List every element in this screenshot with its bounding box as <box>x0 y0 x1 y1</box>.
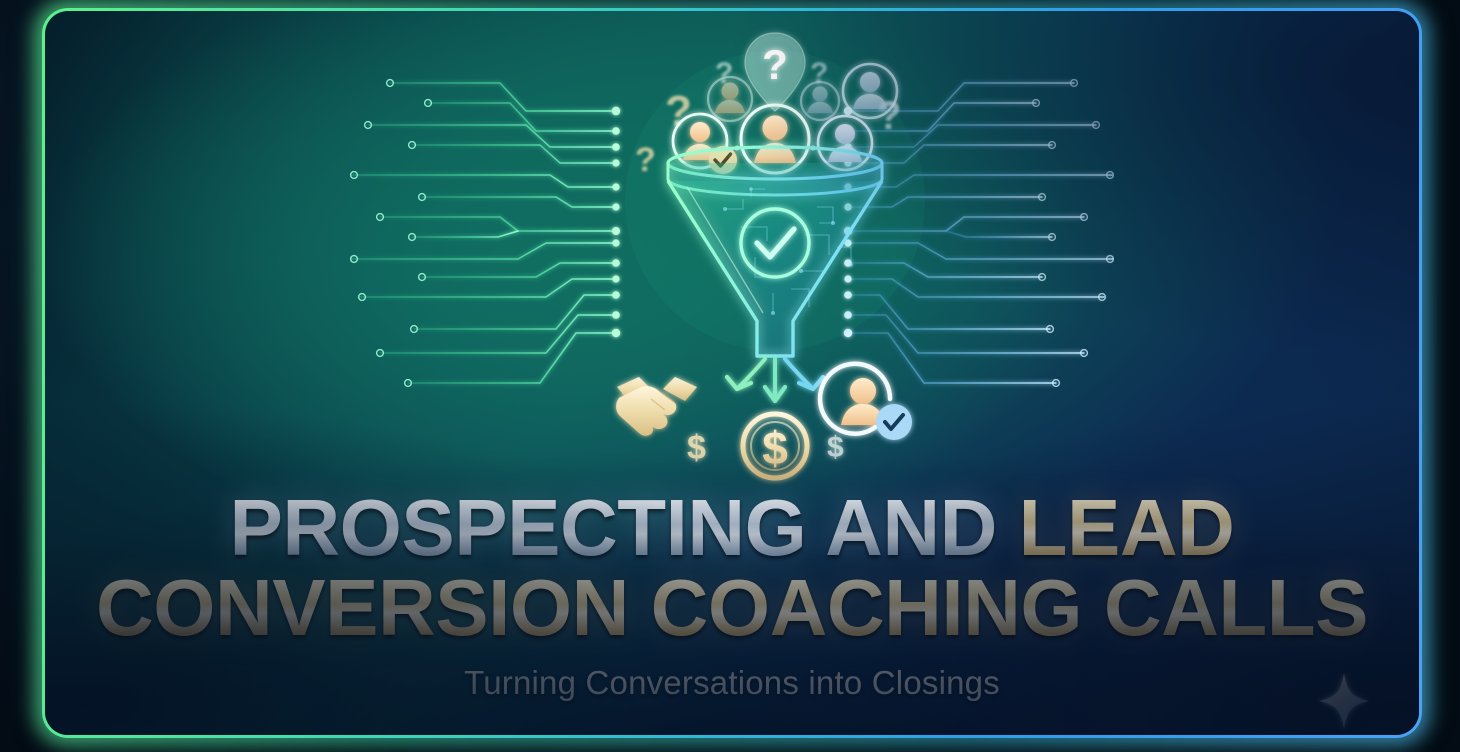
svg-text:$: $ <box>687 429 706 467</box>
title-block: PROSPECTING AND LEAD CONVERSION COACHING… <box>45 489 1419 702</box>
pin-marker-icon: ? <box>745 33 805 111</box>
svg-text:$: $ <box>762 422 788 474</box>
dollar-coin-icon: $ <box>743 414 807 478</box>
title-part-silver: PROSPECTING AND <box>230 483 997 572</box>
arrow-right <box>785 359 823 389</box>
circuit-traces-left <box>350 71 650 401</box>
svg-text:?: ? <box>635 141 656 179</box>
qualified-check-icon <box>741 209 809 277</box>
slide-panel: ? ? ? ? ? ? <box>45 11 1419 735</box>
neon-frame-border: ? ? ? ? ? ? <box>42 8 1422 738</box>
prospect-avatar <box>801 82 839 120</box>
svg-text:?: ? <box>762 41 788 88</box>
prospect-avatar <box>818 116 872 170</box>
verified-customer-icon <box>820 364 912 440</box>
slide-canvas: ? ? ? ? ? ? <box>0 0 1460 752</box>
handshake-icon <box>616 87 697 436</box>
title-part-gold: LEAD <box>1019 483 1235 572</box>
svg-text:?: ? <box>810 57 828 90</box>
arrow-center <box>765 359 785 401</box>
subtitle: Turning Conversations into Closings <box>45 664 1419 702</box>
verified-prospect-avatar <box>673 114 737 174</box>
check-badge-icon <box>709 146 737 174</box>
svg-text:?: ? <box>665 87 692 136</box>
prospect-avatar <box>708 77 752 121</box>
title-line-1: PROSPECTING AND LEAD <box>45 489 1419 567</box>
prospect-avatar <box>741 105 809 173</box>
check-badge-icon <box>876 404 912 440</box>
title-line-2: CONVERSION COACHING CALLS <box>45 569 1419 647</box>
svg-text:?: ? <box>715 57 733 90</box>
circuit-traces-right <box>814 71 1114 401</box>
sparkle-star-icon <box>1317 671 1371 731</box>
svg-text:?: ? <box>877 94 901 138</box>
dollar-sign: $ $ <box>687 429 844 467</box>
prospect-avatar <box>843 64 897 118</box>
arrow-left <box>727 359 765 389</box>
sales-funnel-illustration: ? ? ? ? ? ? <box>605 21 945 491</box>
svg-text:$: $ <box>827 431 844 464</box>
